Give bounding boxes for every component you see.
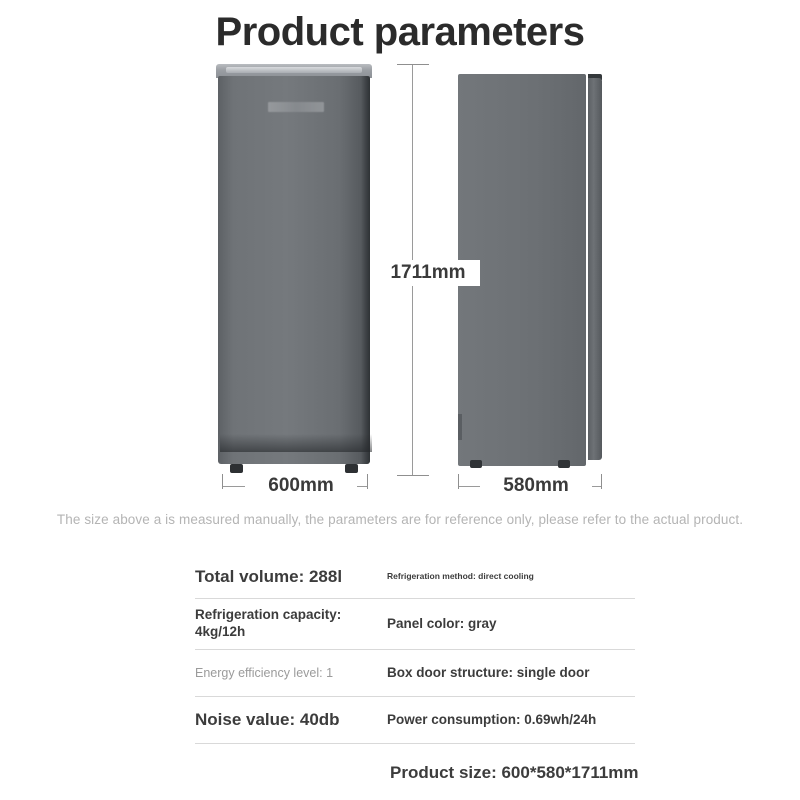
- spec-power-consumption: Power consumption: 0.69wh/24h: [387, 712, 635, 729]
- spec-refrigeration-method: Refrigeration method: direct cooling: [387, 571, 635, 582]
- height-dimension-cap-bottom: [397, 475, 429, 476]
- measurement-disclaimer: The size above a is measured manually, t…: [0, 512, 800, 527]
- front-foot-right: [345, 464, 358, 473]
- specification-table: Total volume: 288l Refrigeration method:…: [195, 556, 635, 744]
- spec-energy-efficiency-level: Energy efficiency level: 1: [195, 666, 387, 681]
- front-foot-left: [230, 464, 243, 473]
- table-row: Energy efficiency level: 1 Box door stru…: [195, 650, 635, 696]
- height-dimension-cap-top: [397, 64, 429, 65]
- front-bottom-shadow: [220, 434, 372, 452]
- table-divider: [195, 743, 635, 744]
- brand-logo: [268, 102, 324, 112]
- spec-refrigeration-capacity: Refrigeration capacity: 4kg/12h: [195, 607, 387, 641]
- height-dimension-label: 1711mm: [376, 260, 480, 286]
- side-foot-right: [558, 460, 570, 468]
- side-width-label: 580mm: [480, 475, 592, 497]
- side-width-tick-left: [458, 474, 459, 489]
- product-parameters-page: Product parameters 1711mm 600mm 580mm Th…: [0, 0, 800, 800]
- page-title: Product parameters: [0, 10, 800, 55]
- table-row: Refrigeration capacity: 4kg/12h Panel co…: [195, 599, 635, 649]
- front-width-label: 600mm: [245, 475, 357, 497]
- product-size-footer: Product size: 600*580*1711mm: [390, 763, 639, 783]
- side-notch: [458, 414, 462, 440]
- front-width-tick-left: [222, 474, 223, 489]
- spec-panel-color: Panel color: gray: [387, 616, 635, 633]
- side-foot-left: [470, 460, 482, 468]
- front-door-panel: [218, 76, 370, 464]
- table-row: Total volume: 288l Refrigeration method:…: [195, 556, 635, 598]
- refrigerator-side-view: [458, 64, 610, 476]
- side-door-edge-strip: [588, 78, 602, 460]
- spec-box-door-structure: Box door structure: single door: [387, 665, 635, 682]
- refrigerator-front-view: [216, 64, 372, 476]
- spec-total-volume: Total volume: 288l: [195, 567, 387, 587]
- table-row: Noise value: 40db Power consumption: 0.6…: [195, 697, 635, 743]
- side-width-tick-right: [601, 474, 602, 489]
- spec-noise-value: Noise value: 40db: [195, 710, 387, 730]
- front-width-tick-right: [367, 474, 368, 489]
